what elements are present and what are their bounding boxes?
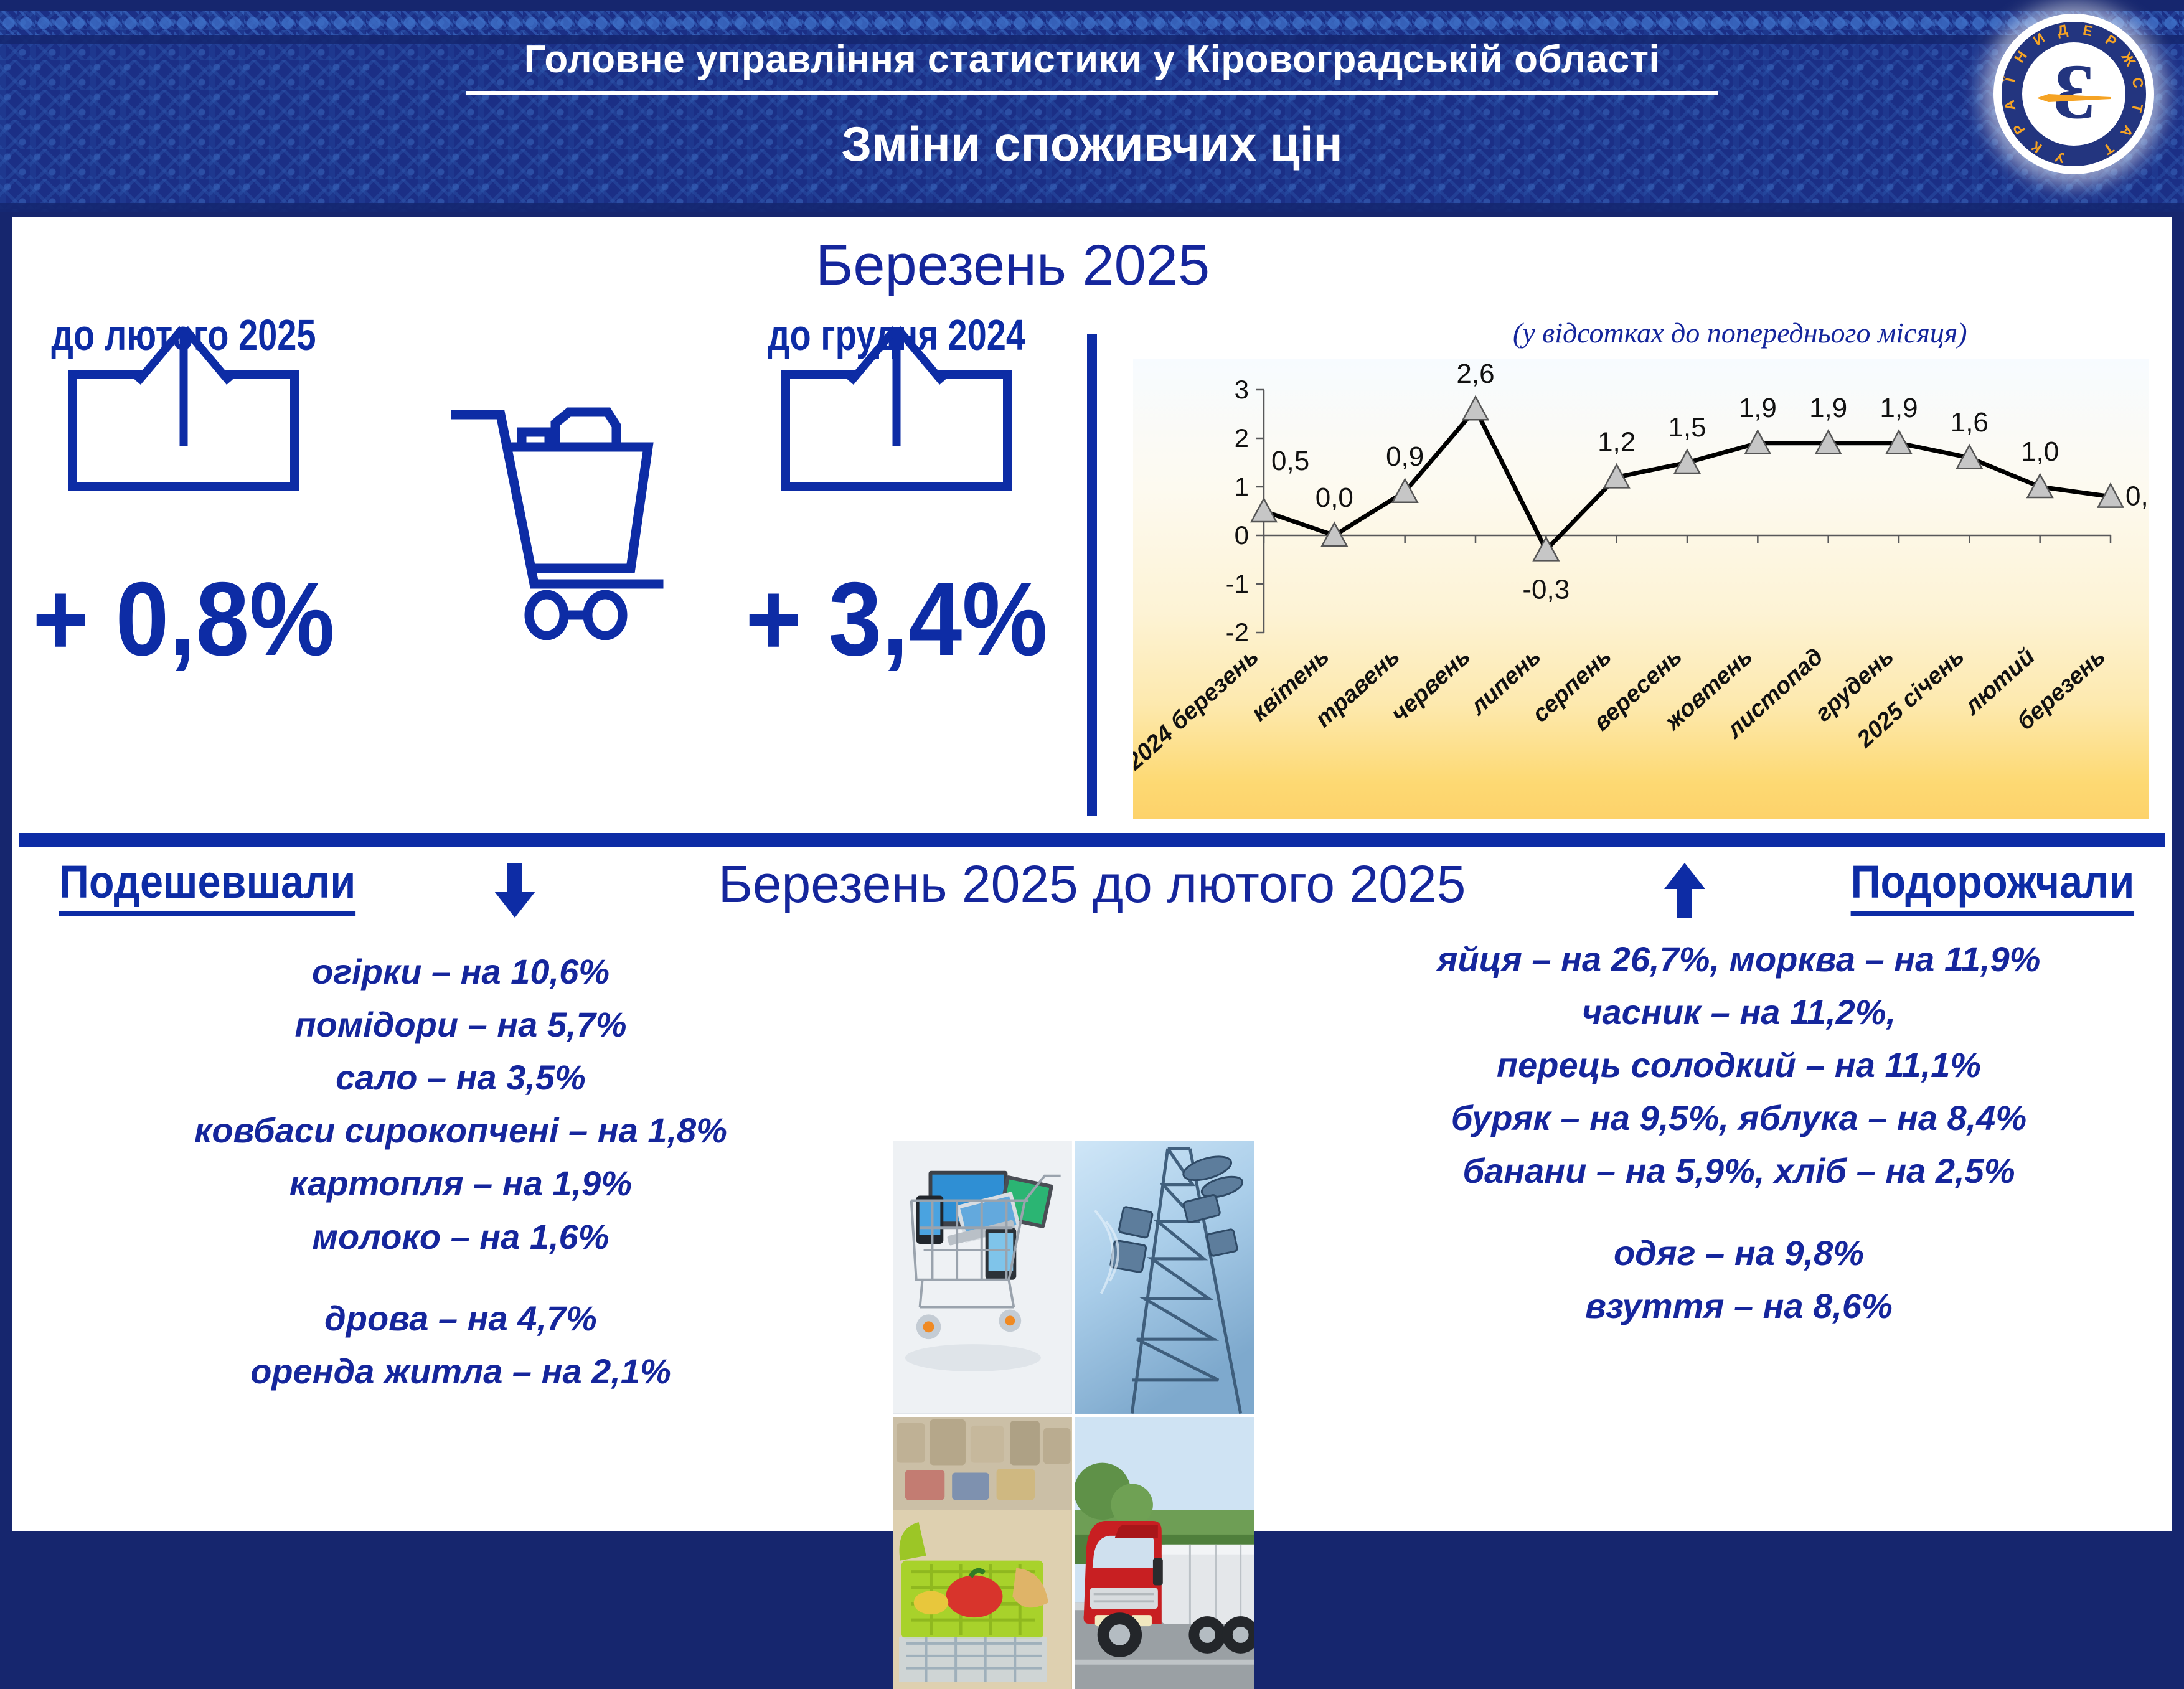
document-title: Зміни споживчих цін (841, 116, 1342, 172)
data-label: -0,3 (1522, 574, 1570, 605)
page-title: Березень 2025 (816, 233, 1210, 298)
arrow-up-head-left (134, 326, 186, 385)
content-area: Березень 2025 до лютого 2025 + 0,8% (12, 217, 2172, 1531)
kpi-box-icon (68, 310, 299, 559)
logo-letter: Е (2081, 22, 2094, 40)
photo-grocery-cart (893, 1417, 1072, 1689)
list-item: одяг – на 9,8% (1325, 1226, 2153, 1279)
y-axis-tick: -2 (1226, 618, 1249, 647)
arrow-up-head-right (182, 326, 233, 385)
chart-subtitle: (у відсотках до попереднього місяця) (1513, 316, 1967, 349)
photo-red-truck (1075, 1417, 1254, 1689)
y-axis-tick: 3 (1235, 375, 1249, 404)
logo-letter: Р (2102, 31, 2120, 50)
box-top-right-edge (225, 370, 299, 379)
photo-electronics-cart (893, 1141, 1072, 1414)
list-item: помідори – на 5,7% (50, 998, 872, 1051)
vertical-divider (1087, 334, 1097, 816)
data-label: 1,6 (1951, 407, 1989, 438)
chart-plot-svg: 3210-1-20,50,00,92,6-0,31,21,51,91,91,91… (1133, 359, 2149, 819)
logo-letter: Т (2101, 139, 2117, 158)
data-label: 1,9 (1880, 393, 1918, 423)
list-item: дрова – на 4,7% (50, 1292, 872, 1345)
kpi-value: + 0,8% (32, 559, 335, 679)
logo-inner-disc: Ɛ (2022, 42, 2125, 146)
cpi-line-chart: 3210-1-20,50,00,92,6-0,31,21,51,91,91,91… (1133, 359, 2149, 819)
kpi-value: + 3,4% (745, 559, 1048, 679)
kpi-card-vs-december: до грудня 2024 + 3,4% (750, 310, 1043, 708)
box-top-left-edge (68, 370, 142, 379)
photo-collage (893, 1141, 1254, 1689)
cheaper-items-list: огірки – на 10,6%помідори – на 5,7%сало … (50, 945, 872, 1398)
data-label: 2,6 (1456, 359, 1494, 389)
header-stripe-bottom (0, 203, 2184, 212)
x-axis-tick-label: 2024 березень (1133, 643, 1264, 775)
logo-letter: Н (2011, 48, 2031, 66)
derzhstat-logo: ДЕРЖСТАТУКРАЇНИ Ɛ (1993, 14, 2154, 174)
organization-title: Головне управління статистики у Кіровогр… (524, 37, 1660, 82)
y-axis-tick: 1 (1235, 472, 1249, 501)
data-label: 1,5 (1668, 412, 1706, 443)
box-top-right-edge (938, 370, 1012, 379)
page-header: Головне управління статистики у Кіровогр… (0, 0, 2184, 212)
data-label: 0,5 (1271, 446, 1309, 476)
list-gap (1325, 1198, 2153, 1226)
list-gap (50, 1263, 872, 1292)
data-label: 1,9 (1739, 393, 1777, 423)
list-item: огірки – на 10,6% (50, 945, 872, 998)
list-item: молоко – на 1,6% (50, 1210, 872, 1263)
comparison-banner: Подешевшали Березень 2025 до лютого 2025… (12, 855, 2172, 924)
box-bottom-edge (68, 482, 299, 491)
arrow-down-icon (492, 863, 538, 918)
arrow-up-head-left (847, 326, 898, 385)
list-item: буряк – на 9,5%, яблука – на 8,4% (1325, 1091, 2153, 1144)
list-item: картопля – на 1,9% (50, 1157, 872, 1210)
data-label: 0,8 (2125, 481, 2149, 512)
data-label: 1,9 (1809, 393, 1847, 423)
photo-telecom-tower (1075, 1141, 1254, 1414)
list-item: перець солодкий – на 11,1% (1325, 1038, 2153, 1091)
box-left-edge (68, 370, 77, 482)
y-axis-tick: -1 (1226, 569, 1249, 598)
list-item: банани – на 5,9%, хліб – на 2,5% (1325, 1144, 2153, 1197)
horizontal-divider (19, 833, 2165, 847)
data-label: 1,0 (2021, 436, 2059, 467)
logo-letter: Р (2010, 120, 2029, 137)
logo-sigma-glyph: Ɛ (2053, 53, 2095, 131)
logo-letter: У (2054, 148, 2066, 166)
logo-letter: С (2129, 76, 2147, 89)
arrow-up-shaft (180, 327, 188, 446)
logo-letter: А (2117, 122, 2137, 140)
list-item: яйця – на 26,7%, морква – на 11,9% (1325, 933, 2153, 986)
y-axis-tick: 2 (1235, 423, 1249, 453)
pricier-heading: Подорожчали (1850, 855, 2134, 916)
list-item: сало – на 3,5% (50, 1051, 872, 1104)
list-item: ковбаси сирокопчені – на 1,8% (50, 1104, 872, 1157)
arrow-up-shaft (893, 327, 901, 446)
logo-letter: Д (2056, 21, 2069, 39)
logo-letter: А (2001, 99, 2019, 112)
cheaper-heading: Подешевшали (59, 855, 355, 916)
data-label: 0,0 (1316, 482, 1353, 513)
box-left-edge (781, 370, 790, 482)
list-item: часник – на 11,2%, (1325, 986, 2153, 1038)
logo-letter: Т (2128, 102, 2146, 115)
shopping-cart-icon (448, 379, 672, 640)
title-underline (466, 91, 1718, 95)
y-axis-tick: 0 (1235, 520, 1249, 550)
box-bottom-edge (781, 482, 1012, 491)
header-ornament-row (0, 11, 2184, 35)
infographic-page: Головне управління статистики у Кіровогр… (0, 0, 2184, 1544)
arrow-up-head-right (895, 326, 946, 385)
arrow-up-icon (1662, 863, 1708, 918)
box-right-edge (290, 370, 299, 482)
header-stripe-top (0, 0, 2184, 11)
pricier-items-list: яйця – на 26,7%, морква – на 11,9%часник… (1325, 933, 2153, 1332)
x-axis-tick-label: червень (1386, 643, 1476, 727)
data-label: 0,9 (1386, 441, 1424, 472)
list-item: оренда житла – на 2,1% (50, 1345, 872, 1398)
box-top-left-edge (781, 370, 855, 379)
logo-letter: Ї (2002, 76, 2020, 83)
logo-letter: К (2028, 138, 2045, 156)
data-label: 1,2 (1598, 426, 1636, 457)
kpi-box-icon (781, 310, 1012, 559)
banner-center-title: Березень 2025 до лютого 2025 (718, 854, 1466, 915)
logo-letter: Ж (2118, 49, 2139, 69)
list-item: взуття – на 8,6% (1325, 1279, 2153, 1332)
box-right-edge (1003, 370, 1012, 482)
kpi-card-vs-february: до лютого 2025 + 0,8% (37, 310, 330, 708)
logo-letter: И (2030, 29, 2048, 49)
